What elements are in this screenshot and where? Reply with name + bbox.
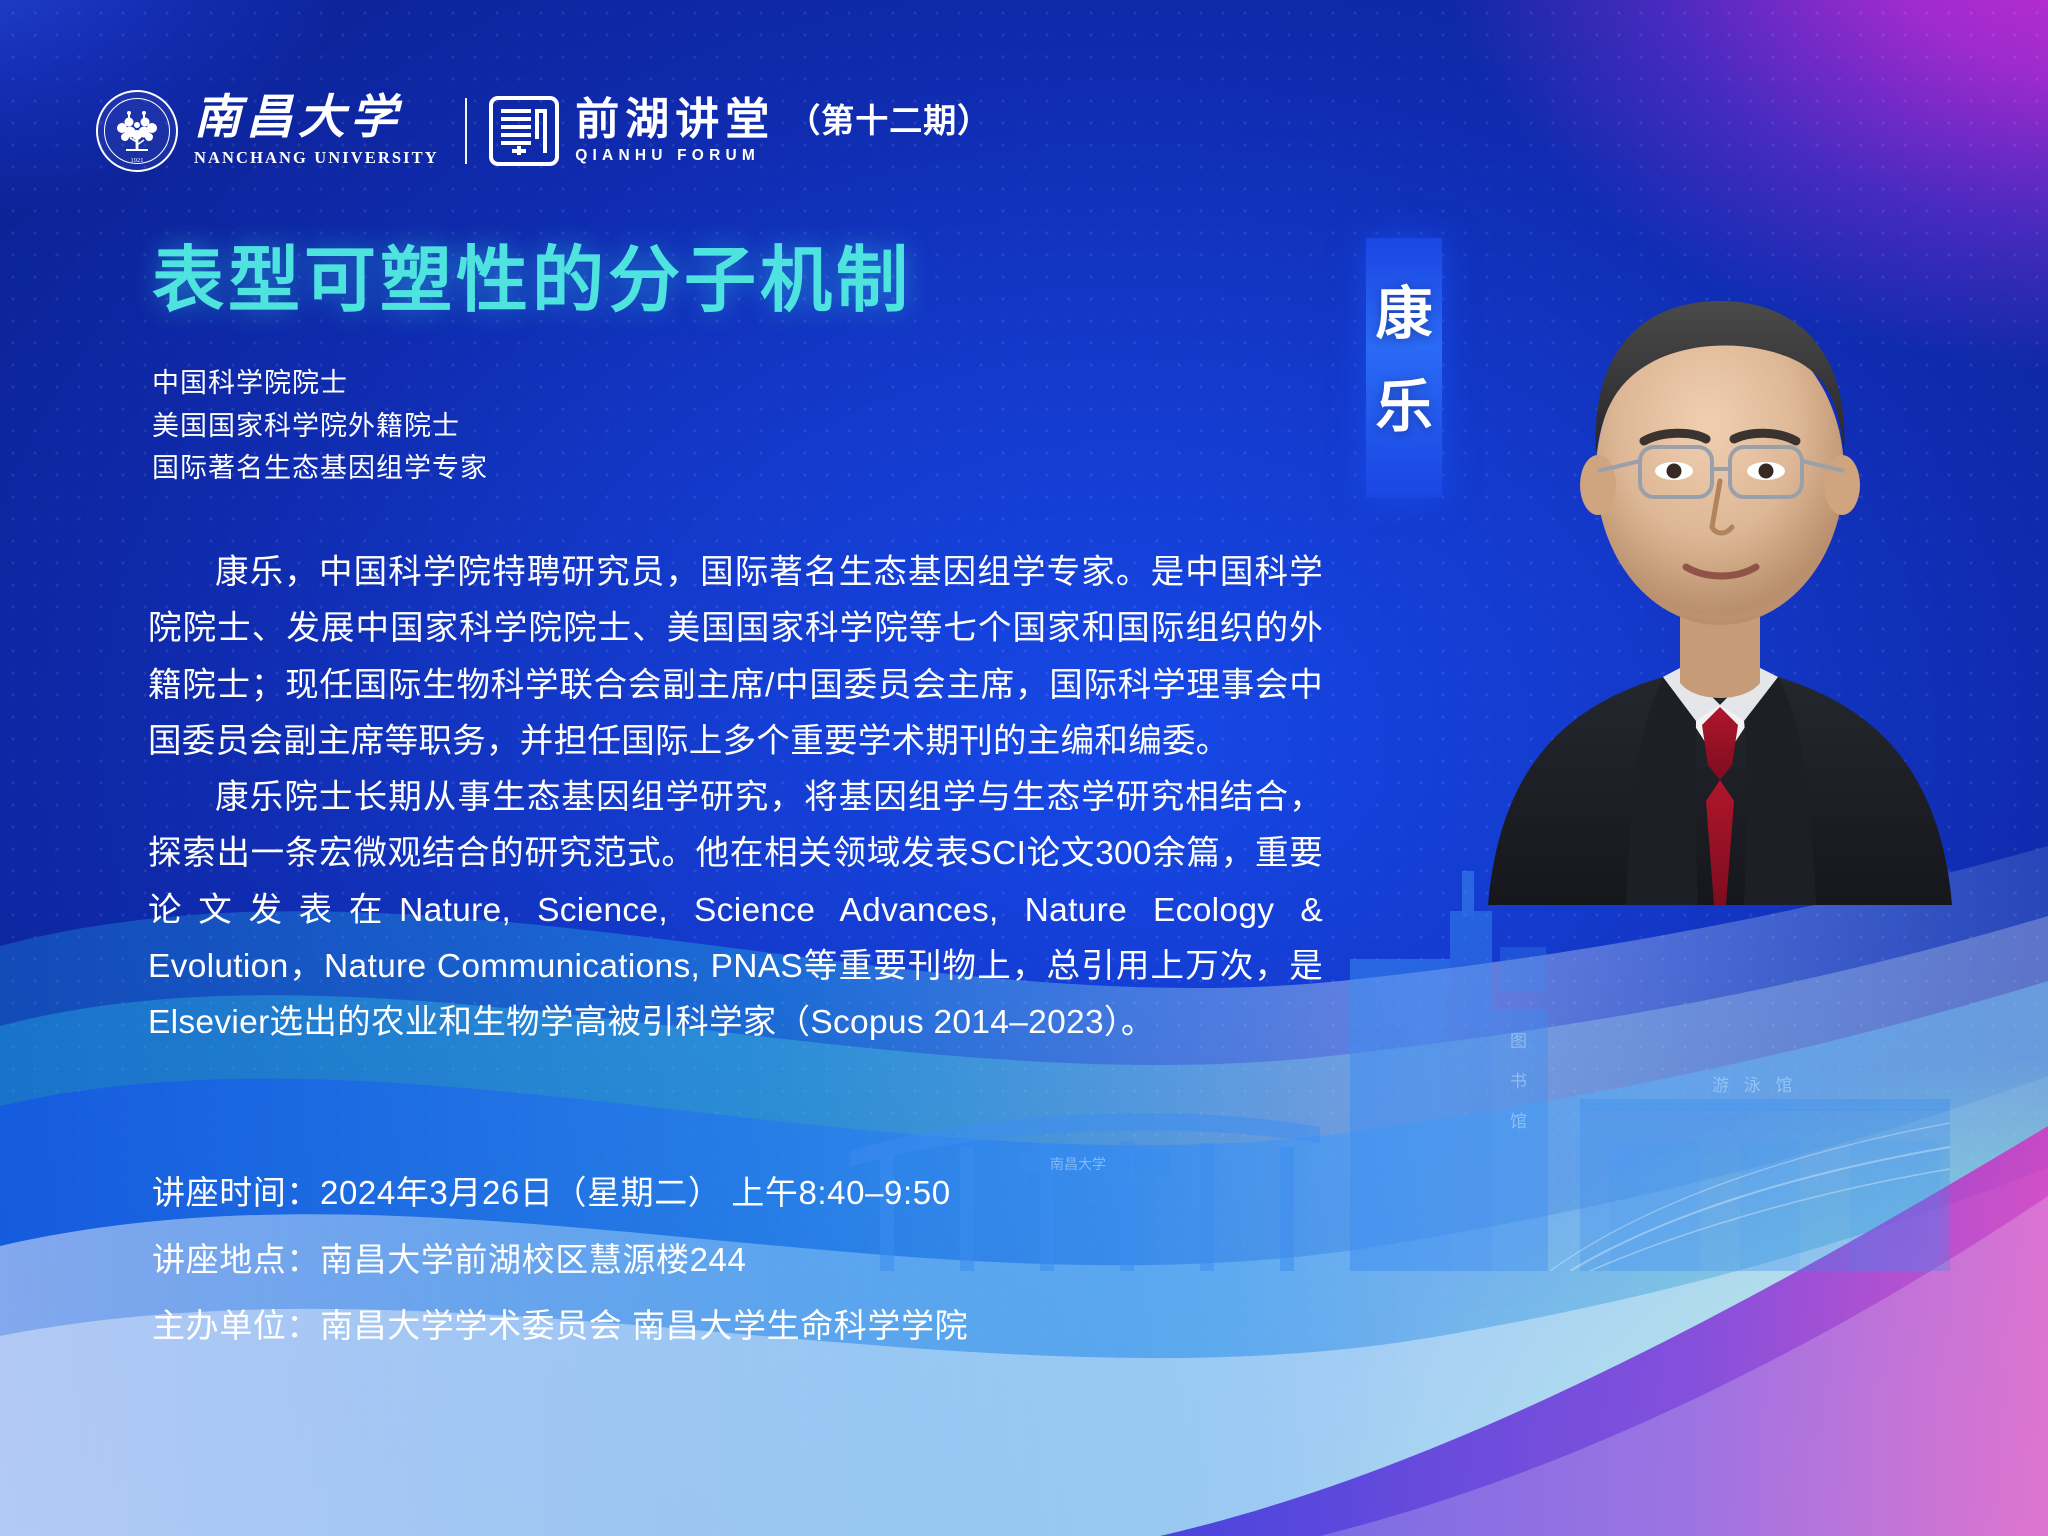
forum-name-en: QIANHU FORUM — [575, 147, 775, 165]
biography-paragraph: 康乐院士长期从事生态基因组学研究，将基因组学与生态学研究相结合，探索出一条宏微观… — [148, 770, 1323, 1051]
lecture-title: 表型可塑性的分子机制 — [152, 245, 912, 317]
seal-year-label: 1921 — [131, 157, 144, 164]
biography-paragraph: 康乐，中国科学院特聘研究员，国际著名生态基因组学专家。是中国科学院院士、发展中国… — [148, 545, 1323, 770]
qianhu-forum-wordmark: 前湖讲堂 QIANHU FORUM — [575, 98, 775, 165]
forum-name-cn: 前湖讲堂 — [575, 98, 775, 142]
qianhu-forum-logo-icon — [489, 96, 559, 166]
speaker-name-char: 康 — [1366, 268, 1442, 350]
header-divider — [465, 98, 468, 164]
university-name-cn: 南昌大学 — [194, 95, 439, 142]
lecture-details: 讲座时间：2024年3月26日（星期二） 上午8:40–9:50 讲座地点：南昌… — [152, 1160, 968, 1360]
campus-natatorium-label: 游 泳 馆 — [1712, 1076, 1797, 1095]
speaker-name-char: 乐 — [1366, 361, 1442, 443]
university-wordmark: 南昌大学 NANCHANG UNIVERSITY — [194, 95, 439, 168]
speaker-credentials: 中国科学院院士 美国国家科学院外籍院士 国际著名生态基因组学专家 — [152, 362, 488, 490]
university-name-en: NANCHANG UNIVERSITY — [194, 148, 439, 168]
campus-library-label: 图 — [1510, 1032, 1527, 1051]
speaker-biography: 康乐，中国科学院特聘研究员，国际著名生态基因组学专家。是中国科学院院士、发展中国… — [148, 545, 1323, 1051]
university-seal-icon: 1921 — [96, 90, 178, 172]
campus-library-label-3: 馆 — [1510, 1112, 1527, 1131]
poster-header: 1921 南昌大学 NANCHANG UNIVERSITY — [96, 88, 991, 174]
lecture-poster: 图 书 馆 游 泳 馆 南昌大学 — [0, 0, 2048, 1536]
campus-library-label-2: 书 — [1510, 1072, 1527, 1091]
campus-gate-label: 南昌大学 — [1050, 1156, 1106, 1172]
speaker-portrait-photo — [1448, 205, 1988, 905]
lecture-host: 主办单位：南昌大学学术委员会 南昌大学生命科学学院 — [152, 1293, 968, 1360]
lecture-place: 讲座地点：南昌大学前湖校区慧源楼244 — [152, 1227, 968, 1294]
credential-line: 美国国家科学院外籍院士 — [152, 405, 488, 448]
credential-line: 国际著名生态基因组学专家 — [152, 447, 488, 490]
speaker-name-plate: 康 乐 — [1366, 238, 1442, 498]
forum-issue-number: （第十二期） — [787, 94, 991, 142]
credential-line: 中国科学院院士 — [152, 362, 488, 405]
lecture-time: 讲座时间：2024年3月26日（星期二） 上午8:40–9:50 — [152, 1160, 968, 1227]
